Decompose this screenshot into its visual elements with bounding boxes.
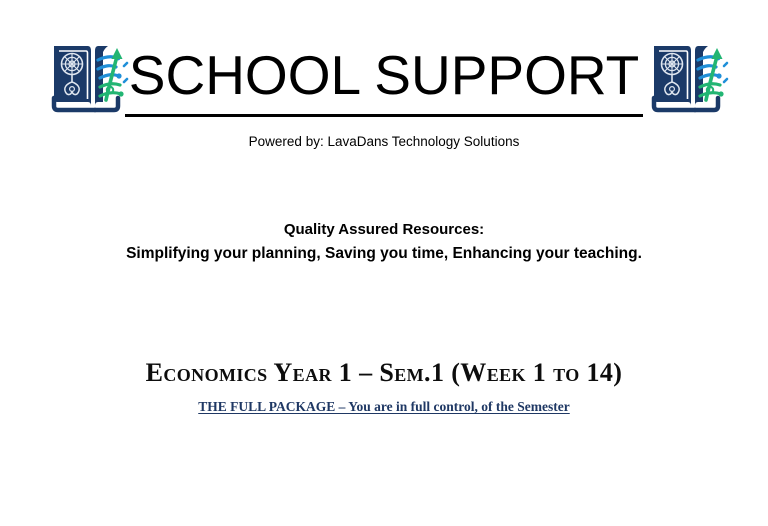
tagline-quality-assured: Quality Assured Resources: — [0, 218, 768, 241]
page-title: SCHOOL SUPPORT — [125, 38, 643, 117]
package-note: THE FULL PACKAGE – You are in full contr… — [198, 399, 570, 415]
page-header: SCHOOL SUPPORT — [0, 38, 768, 124]
cover-page: SCHOOL SUPPORT — [0, 0, 768, 526]
course-heading: Economics Year 1 – Sem.1 (Week 1 to 14) — [0, 358, 768, 388]
school-support-logo-right — [648, 38, 734, 114]
tagline-benefits: Simplifying your planning, Saving you ti… — [0, 241, 768, 267]
tagline-block: Quality Assured Resources: Simplifying y… — [0, 218, 768, 267]
powered-by-text: Powered by: LavaDans Technology Solution… — [0, 134, 768, 149]
package-note-wrap: THE FULL PACKAGE – You are in full contr… — [0, 398, 768, 416]
